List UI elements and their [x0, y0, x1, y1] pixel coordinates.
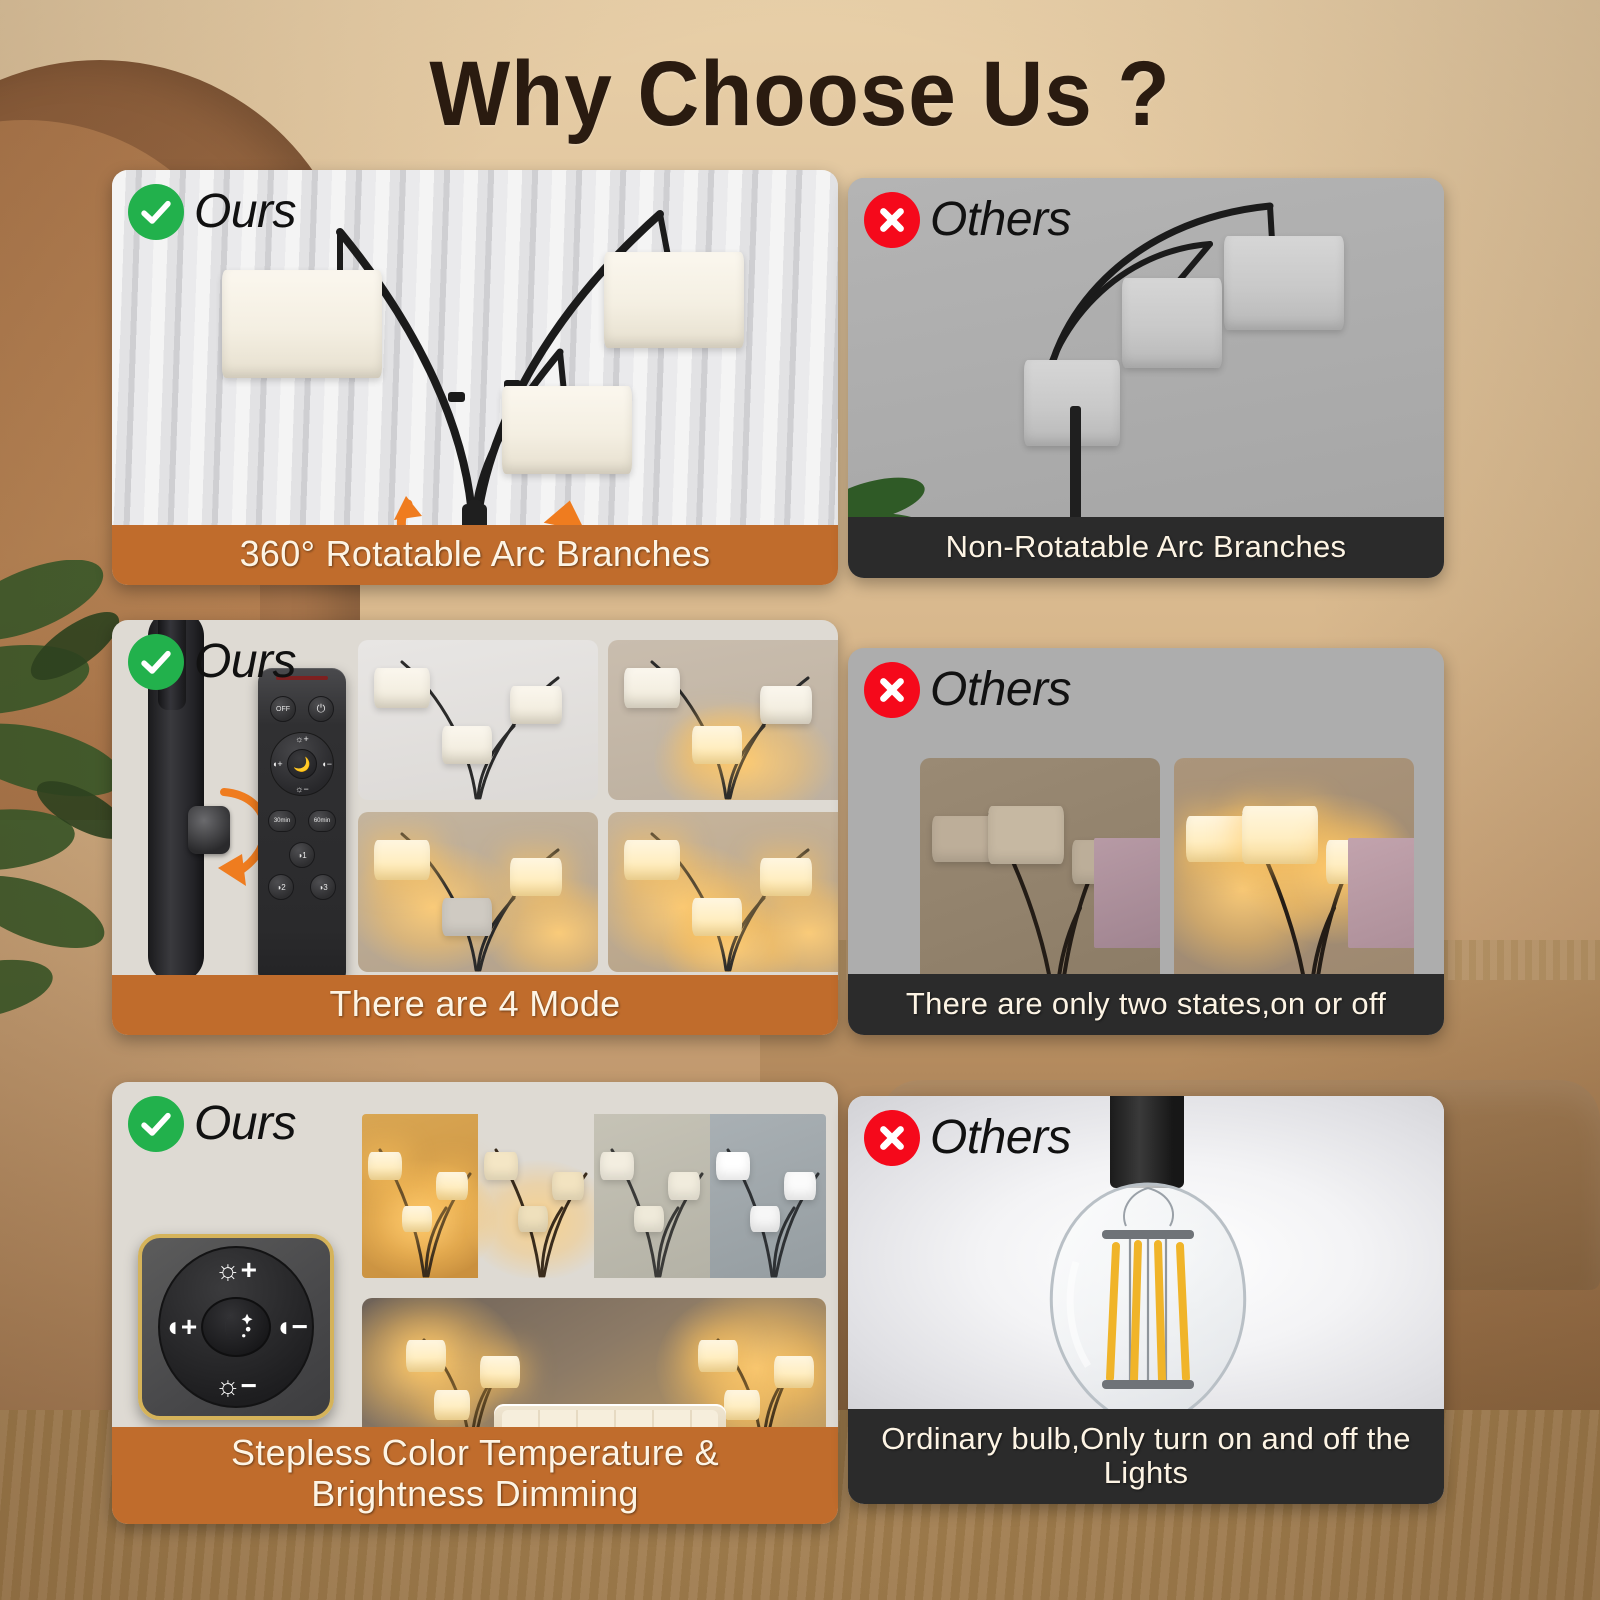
lamp-shade — [502, 386, 632, 474]
card-others-modes: Others There are only two states,on or o… — [848, 648, 1444, 1035]
cross-icon — [864, 1110, 920, 1166]
lamp-shade — [604, 252, 744, 348]
brightness-up-label: ☼+ — [215, 1254, 257, 1286]
caption-ours-modes: There are 4 Mode — [112, 975, 838, 1035]
moon-stars-icon[interactable] — [201, 1297, 271, 1357]
lamp-pole — [1070, 406, 1081, 517]
color-temp-up-label: ◖+ — [164, 1311, 197, 1343]
caption-others-bulb: Ordinary bulb,Only turn on and off the L… — [848, 1409, 1444, 1504]
remote-timer-60-label: 60min — [314, 818, 330, 824]
remote-timer-30-button[interactable]: 30min — [268, 810, 296, 832]
badge-label: Ours — [194, 1100, 296, 1148]
caption-others-modes: There are only two states,on or off — [848, 974, 1444, 1035]
cross-icon — [864, 192, 920, 248]
remote-timer-30-label: 30min — [274, 818, 290, 824]
card-others-rotatable-photo: Others — [848, 178, 1444, 517]
brightness-down-label: ☼− — [215, 1370, 257, 1402]
check-icon — [128, 1096, 184, 1152]
page-title: Why Choose Us ? — [56, 42, 1544, 147]
card-ours-rotatable: Ours 360° Rotatable Arc Branches — [112, 170, 838, 585]
cross-icon — [864, 662, 920, 718]
card-others-bulb: Others Ordinary bulb,Only turn on and of… — [848, 1096, 1444, 1504]
badge-label: Ours — [194, 638, 296, 686]
card-ours-modes: OFF ⏻ ☼+ ☼− ◖+ ◖− 🌙 30min 60min ◑1 — [112, 620, 838, 1035]
remote-brightness-up-label: ☼+ — [295, 734, 309, 744]
moon-icon[interactable]: 🌙 — [287, 749, 317, 779]
badge-others: Others — [864, 1110, 1071, 1166]
badge-label: Ours — [194, 188, 296, 236]
remote-dimmer-pad[interactable]: ☼+ ☼− ◖+ ◖− 🌙 — [270, 732, 334, 796]
card-others-bulb-body: Others — [848, 1096, 1444, 1409]
mode-tile — [358, 640, 598, 800]
dimmer-disc[interactable]: ☼+ ☼− ◖+ ◖− — [158, 1246, 314, 1408]
card-ours-dimming-body: ☼+ ☼− ◖+ ◖− — [112, 1082, 838, 1427]
badge-label: Others — [930, 196, 1071, 244]
card-others-rotatable: Others Non-Rotatable Arc Branches — [848, 178, 1444, 578]
mode-tile — [608, 812, 838, 972]
color-temp-sample — [710, 1114, 826, 1278]
remote-color-down-label: ◖− — [321, 759, 332, 769]
lamp-shade — [222, 270, 382, 378]
dimmer-control-panel[interactable]: ☼+ ☼− ◖+ ◖− — [138, 1234, 334, 1420]
color-temp-sample — [478, 1114, 594, 1278]
plant-icon — [848, 454, 1004, 517]
state-tile-on — [1174, 758, 1414, 974]
caption-others-rotatable: Non-Rotatable Arc Branches — [848, 517, 1444, 578]
badge-ours: Ours — [128, 1096, 296, 1152]
remote-scene-1-button[interactable]: ◑1 — [289, 842, 315, 868]
remote-brightness-down-label: ☼− — [295, 784, 309, 794]
lamp-shade — [1224, 236, 1344, 330]
remote-color-up-label: ◖+ — [272, 759, 283, 769]
badge-label: Others — [930, 666, 1071, 714]
card-others-modes-body: Others — [848, 648, 1444, 974]
card-ours-dimming: ☼+ ☼− ◖+ ◖− — [112, 1082, 838, 1524]
color-temp-sample — [594, 1114, 710, 1278]
lamp-shade — [1122, 278, 1222, 368]
mode-tile — [358, 812, 598, 972]
badge-others: Others — [864, 662, 1071, 718]
card-ours-modes-body: OFF ⏻ ☼+ ☼− ◖+ ◖− 🌙 30min 60min ◑1 — [112, 620, 838, 975]
card-ours-rotatable-photo: Ours — [112, 170, 838, 525]
color-temp-down-label: ◖− — [275, 1311, 308, 1343]
remote-power-button[interactable]: ⏻ — [308, 696, 334, 722]
check-icon — [128, 634, 184, 690]
remote-off-button[interactable]: OFF — [270, 696, 296, 722]
remote-scene-2-button[interactable]: ◑2 — [268, 874, 294, 900]
living-room-photo — [362, 1298, 826, 1427]
caption-ours-rotatable: 360° Rotatable Arc Branches — [112, 525, 838, 585]
check-icon — [128, 184, 184, 240]
caption-line-2: Brightness Dimming — [118, 1474, 832, 1514]
remote-control[interactable]: OFF ⏻ ☼+ ☼− ◖+ ◖− 🌙 30min 60min ◑1 — [258, 668, 346, 975]
state-tile-off — [920, 758, 1160, 974]
caption-ours-dimming: Stepless Color Temperature & Brightness … — [112, 1427, 838, 1524]
badge-ours: Ours — [128, 184, 296, 240]
remote-timer-60-button[interactable]: 60min — [308, 810, 336, 832]
badge-label: Others — [930, 1114, 1071, 1162]
color-temp-sample — [362, 1114, 478, 1278]
badge-ours: Ours — [128, 634, 296, 690]
badge-others: Others — [864, 192, 1071, 248]
light-bulb-icon — [998, 1174, 1298, 1409]
caption-line-1: Stepless Color Temperature & — [118, 1433, 832, 1473]
mode-tile — [608, 640, 838, 800]
color-temperature-strip — [362, 1114, 826, 1278]
rotation-arrow-icon — [388, 486, 598, 525]
remote-scene-3-button[interactable]: ◑3 — [310, 874, 336, 900]
